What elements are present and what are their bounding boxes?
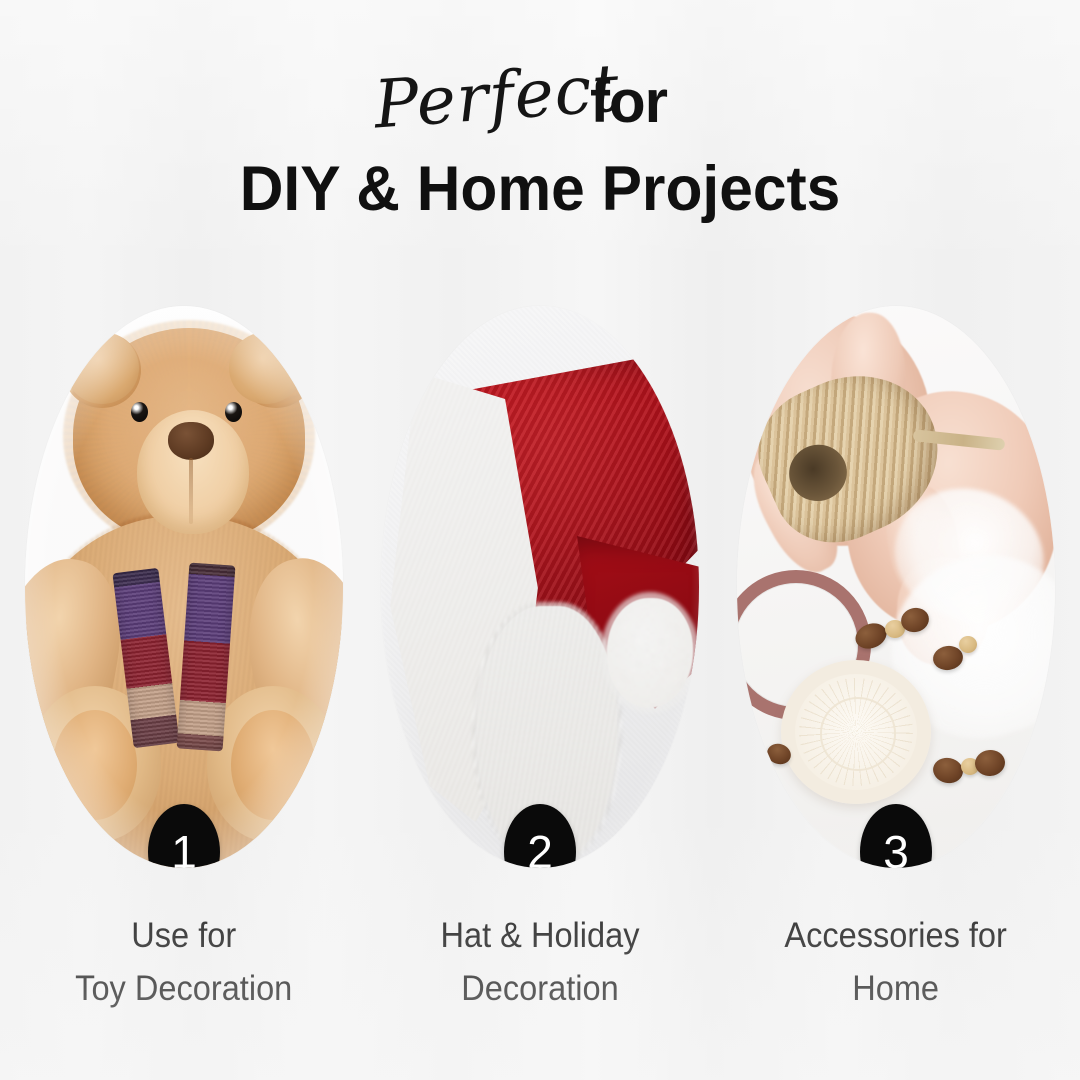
script-headline-word: Perfect	[372, 55, 622, 138]
craft-hands-scene	[737, 306, 1055, 868]
caption-line-1: Use for	[132, 916, 237, 955]
card-caption-1: Use for Toy Decoration	[75, 910, 292, 1015]
teddy-bear-scene	[25, 306, 343, 868]
caption-line-1: Accessories for	[785, 916, 1008, 955]
caption-line-2: Home	[785, 963, 1008, 1016]
card-caption-2: Hat & Holiday Decoration	[440, 910, 639, 1015]
caption-line-2: Decoration	[440, 963, 639, 1016]
feature-card-3[interactable]: 3 Accessories for Home	[728, 306, 1064, 1066]
santa-hat-photo: 2	[381, 306, 699, 868]
card-caption-3: Accessories for Home	[785, 910, 1008, 1015]
step-number: 1	[171, 829, 197, 868]
feature-card-2[interactable]: 2 Hat & Holiday Decoration	[372, 306, 708, 1066]
headline-for-word: for	[590, 72, 667, 132]
photo-vignette	[381, 306, 699, 868]
photo-vignette	[25, 306, 343, 868]
page-title: DIY & Home Projects	[22, 156, 1059, 222]
feature-card-1[interactable]: 1 Use for Toy Decoration	[16, 306, 352, 1066]
headline-row: Perfect for	[0, 62, 1080, 154]
caption-line-1: Hat & Holiday	[440, 916, 639, 955]
photo-vignette	[737, 306, 1055, 868]
caption-line-2: Toy Decoration	[75, 963, 292, 1016]
step-number: 2	[527, 829, 553, 868]
santa-hat-scene	[381, 306, 699, 868]
header: Perfect for DIY & Home Projects	[0, 62, 1080, 222]
step-number: 3	[883, 829, 909, 868]
craft-hands-photo: 3	[737, 306, 1055, 868]
promo-canvas: Perfect for DIY & Home Projects	[0, 0, 1080, 1080]
teddy-bear-photo: 1	[25, 306, 343, 868]
feature-cards: 1 Use for Toy Decoration	[0, 306, 1080, 1066]
